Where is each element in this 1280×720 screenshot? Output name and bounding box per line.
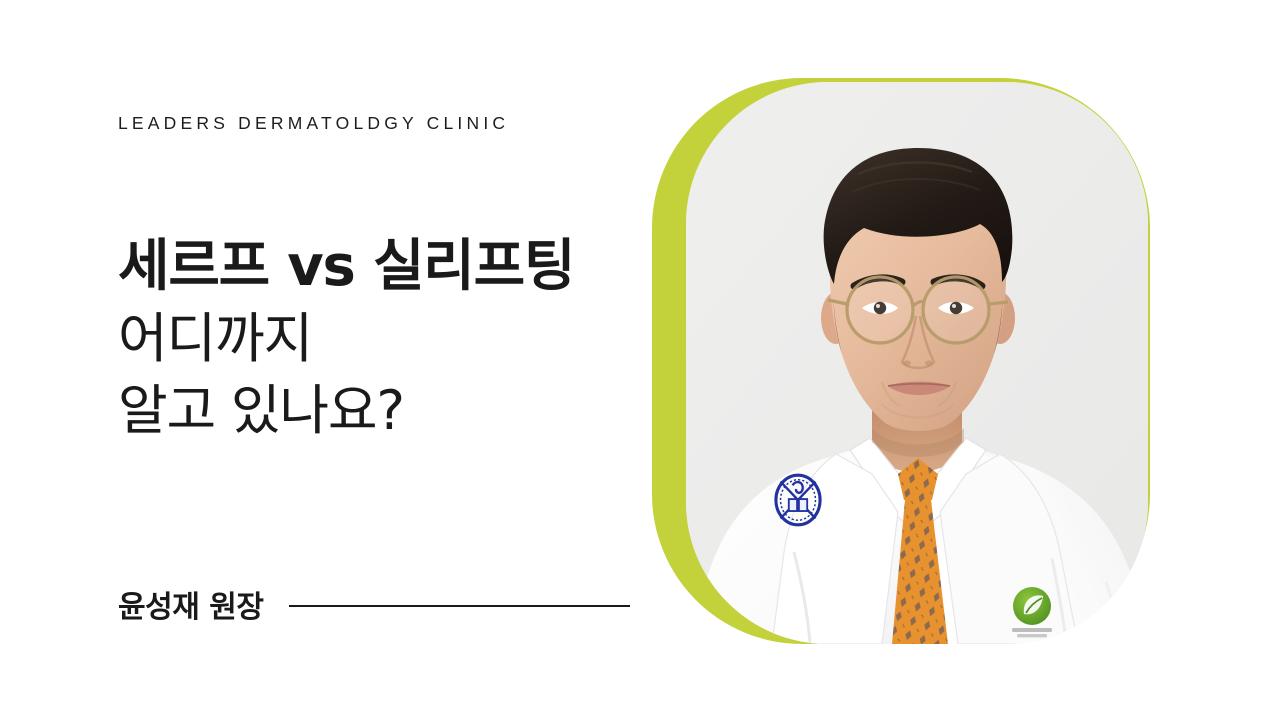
headline-line-3: 알고 있나요?	[118, 375, 678, 447]
byline: 윤성재 원장	[118, 582, 630, 626]
headline-line-2: 어디까지	[118, 303, 678, 375]
clinic-eyebrow-label: LEADERS DERMATOLDGY CLINIC	[118, 113, 509, 134]
doctor-portrait-image	[686, 82, 1148, 644]
portrait-frame: 흰색 가운을 입고 둥근 안경을 쓴 남성 의사의 상반신 사진	[686, 82, 1148, 644]
clinic-leaf-logo	[1012, 587, 1052, 637]
headline-line-1: 세르프 vs 실리프팅	[118, 231, 678, 303]
page-title: 세르프 vs 실리프팅 어디까지 알고 있나요?	[118, 231, 678, 447]
portrait-block: 흰색 가운을 입고 둥근 안경을 쓴 남성 의사의 상반신 사진	[652, 78, 1152, 644]
text-column: LEADERS DERMATOLDGY CLINIC 세르프 vs 실리프팅 어…	[118, 0, 658, 720]
byline-divider	[289, 605, 630, 607]
slide-canvas: LEADERS DERMATOLDGY CLINIC 세르프 vs 실리프팅 어…	[0, 0, 1280, 720]
doctor-name-label: 윤성재 원장	[118, 582, 263, 626]
